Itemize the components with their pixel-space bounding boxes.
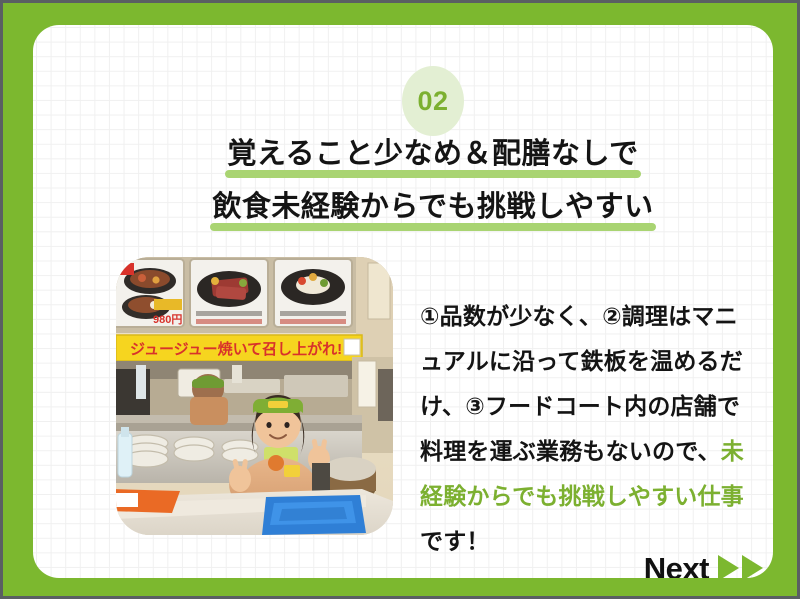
headline-line1-text: 覚えること少なめ＆配膳なしで: [227, 138, 638, 170]
body-copy-part2: です！: [420, 528, 490, 554]
svg-text:ジュージュー焼いて召し上がれ!!: ジュージュー焼いて召し上がれ!!: [130, 340, 347, 358]
headline-line2-underline: [210, 223, 655, 231]
slide-container: 02 覚えること少なめ＆配膳なしで 飲食未経験からでも挑戦しやすい: [0, 0, 800, 599]
headline-line1-row: 覚えること少なめ＆配膳なしで: [33, 137, 773, 178]
body-copy: ①品数が少なく、②調理はマニュアルに沿って鉄板を温めるだけ、③フードコート内の店…: [420, 294, 758, 564]
next-arrows: [718, 555, 763, 578]
play-arrow-icon-2: [742, 555, 763, 578]
step-number-text: 02: [417, 88, 448, 115]
store-staff-photo: 980円: [116, 257, 393, 535]
next-button-label: Next: [644, 553, 709, 579]
headline-line1: 覚えること少なめ＆配膳なしで: [225, 137, 640, 178]
step-number-badge: 02: [402, 66, 464, 136]
body-copy-part1: ①品数が少なく、②調理はマニュアルに沿って鉄板を温めるだけ、③フードコート内の店…: [420, 303, 743, 464]
headline-line2-row: 飲食未経験からでも挑戦しやすい: [33, 190, 773, 231]
headline-line1-underline: [225, 170, 640, 178]
headline-line2-text: 飲食未経験からでも挑戦しやすい: [212, 191, 653, 223]
headline-line2: 飲食未経験からでも挑戦しやすい: [210, 190, 655, 231]
slide-card: 02 覚えること少なめ＆配膳なしで 飲食未経験からでも挑戦しやすい: [33, 25, 773, 578]
next-button[interactable]: Next: [633, 545, 763, 578]
photo-illustration: 980円: [116, 257, 393, 535]
play-arrow-icon: [718, 555, 739, 578]
svg-text:980円: 980円: [153, 313, 182, 326]
